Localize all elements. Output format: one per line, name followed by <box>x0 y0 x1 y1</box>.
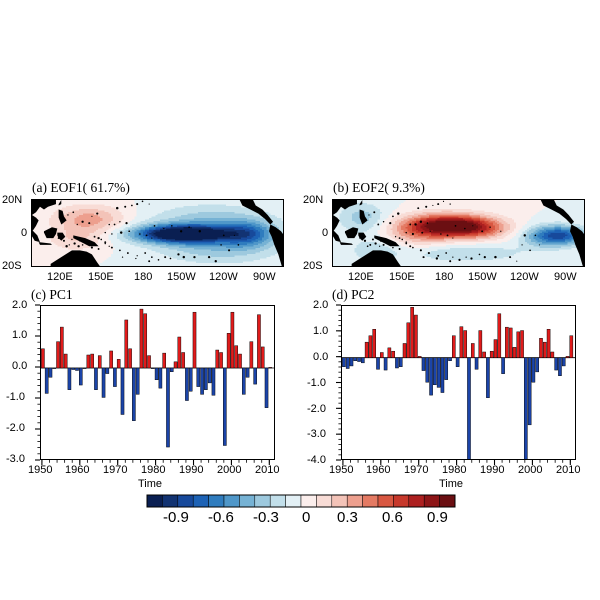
colorbar-segment <box>378 495 393 507</box>
map-b-lon-tick-1: 150E <box>389 271 415 283</box>
pc1-ytick-3: -1.0 <box>6 391 25 403</box>
map-b-lon-tick-0: 120E <box>348 271 374 283</box>
pc2-xlabel: Time <box>439 478 463 490</box>
colorbar-segment <box>316 495 331 507</box>
colorbar-segment <box>409 495 424 507</box>
colorbar-segment <box>239 495 254 507</box>
colorbar-tick-3: 0 <box>302 509 310 526</box>
map-b-lon-tick-2: 180 <box>435 271 453 283</box>
pc2-ytick-4: -2.0 <box>307 403 326 415</box>
pc1-xtick-2: 1970 <box>103 464 127 476</box>
map-a-lon-tick-3: 150W <box>167 271 196 283</box>
map-b-lon-tick-4: 120W <box>510 271 539 283</box>
colorbar-tick-6: 0.9 <box>427 509 448 526</box>
colorbar-segment <box>332 495 347 507</box>
pc2-xtick-0: 1950 <box>329 464 353 476</box>
colorbar-tick-2: -0.3 <box>253 509 279 526</box>
colorbar-tick-0: -0.9 <box>163 509 189 526</box>
pc2-xtick-2: 1970 <box>404 464 428 476</box>
axis-ticks <box>35 305 269 465</box>
pc1-xtick-6: 2010 <box>255 464 279 476</box>
eof2-map-canvas <box>333 200 585 267</box>
map-a-lon-tick-0: 120E <box>47 271 73 283</box>
colorbar-tick-4: 0.3 <box>337 509 358 526</box>
colorbar-tick-5: 0.6 <box>382 509 403 526</box>
colorbar-segment <box>440 495 455 507</box>
pc1-ytick-5: -3.0 <box>6 453 25 465</box>
colorbar-segment <box>147 495 162 507</box>
pc2-xtick-4: 1990 <box>480 464 504 476</box>
pc1-ytick-0: 2.0 <box>12 299 27 311</box>
map-b-lon-tick-5: 90W <box>554 271 577 283</box>
colorbar-segment <box>270 495 285 507</box>
map-b-lat-tick-20s: 20S <box>303 260 323 272</box>
colorbar-segment <box>209 495 224 507</box>
figure-root: (a) EOF1( 61.7%) (b) EOF2( 9.3%) 20N 0 2… <box>0 0 600 600</box>
map-a-lon-tick-4: 120W <box>209 271 238 283</box>
colorbar-segment <box>178 495 193 507</box>
pc2-xtick-5: 2000 <box>518 464 542 476</box>
colorbar-segment <box>347 495 362 507</box>
pc1-axis <box>20 300 285 475</box>
map-a-lat-tick-0: 0 <box>21 227 27 239</box>
colorbar-segment <box>162 495 177 507</box>
pc2-ytick-3: -1.0 <box>307 377 326 389</box>
colorbar-segment <box>193 495 208 507</box>
pc2-ytick-2: 0.0 <box>313 351 328 363</box>
eof1-map <box>31 199 284 267</box>
panel-b-title: (b) EOF2( 9.3%) <box>333 180 425 196</box>
panel-a-title: (a) EOF1( 61.7%) <box>32 180 130 196</box>
eof1-map-canvas <box>32 200 284 267</box>
pc2-ytick-6: -4.0 <box>307 454 326 466</box>
pc2-xtick-6: 2010 <box>556 464 580 476</box>
pc1-xtick-4: 1990 <box>179 464 203 476</box>
sst-anomaly-colorbar <box>146 494 456 508</box>
map-a-lon-tick-1: 150E <box>88 271 114 283</box>
map-a-lat-tick-20n: 20N <box>2 194 22 206</box>
pc2-ytick-5: -3.0 <box>307 428 326 440</box>
pc2-ytick-0: 2.0 <box>313 299 328 311</box>
colorbar-segment <box>393 495 408 507</box>
colorbar-segment <box>363 495 378 507</box>
colorbar-segment <box>301 495 316 507</box>
colorbar-segment <box>255 495 270 507</box>
pc2-axis <box>321 300 586 475</box>
pc1-xlabel: Time <box>138 478 162 490</box>
colorbar-segment <box>224 495 239 507</box>
map-a-lon-tick-2: 180 <box>134 271 152 283</box>
colorbar-segment <box>286 495 301 507</box>
pc1-xtick-1: 1960 <box>65 464 89 476</box>
map-a-lat-tick-20s: 20S <box>2 260 22 272</box>
pc2-xtick-1: 1960 <box>366 464 390 476</box>
pc1-xtick-3: 1980 <box>141 464 165 476</box>
pc1-ytick-2: 0.0 <box>12 360 27 372</box>
eof2-map <box>332 199 585 267</box>
pc1-xtick-0: 1950 <box>28 464 52 476</box>
axis-ticks <box>336 305 570 465</box>
map-b-lon-tick-3: 150W <box>468 271 497 283</box>
colorbar-segment <box>424 495 439 507</box>
map-b-lat-tick-20n: 20N <box>303 194 323 206</box>
pc1-ytick-4: -2.0 <box>6 422 25 434</box>
pc2-xtick-3: 1980 <box>442 464 466 476</box>
pc2-ytick-1: 1.0 <box>313 325 328 337</box>
colorbar-tick-1: -0.6 <box>208 509 234 526</box>
pc1-xtick-5: 2000 <box>217 464 241 476</box>
map-a-lon-tick-5: 90W <box>253 271 276 283</box>
map-b-lat-tick-0: 0 <box>322 227 328 239</box>
pc1-ytick-1: 1.0 <box>12 329 27 341</box>
